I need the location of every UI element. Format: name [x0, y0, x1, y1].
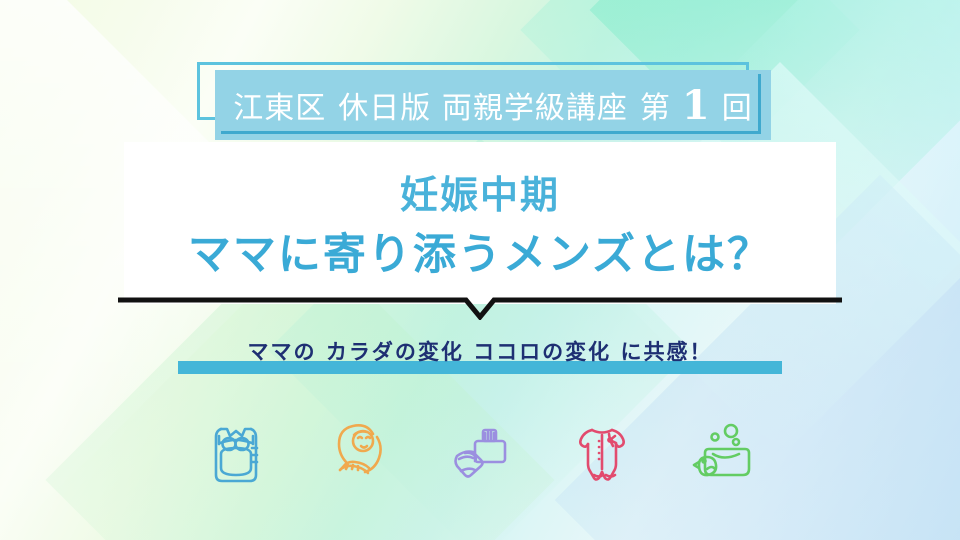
banner-ward-label: 江東区	[233, 83, 326, 127]
banner-ordinal-suffix: 回	[722, 83, 753, 127]
icon-cell-diaper-wipes	[434, 406, 526, 498]
banner-ordinal-prefix: 第	[640, 83, 671, 127]
title-card: 妊娠中期 ママに寄り添うメンズとは？	[124, 142, 836, 304]
icon-cell-baby-carrier	[190, 406, 282, 498]
header-banner: 江東区 休日版 両親学級講座 第 1 回	[197, 62, 771, 140]
slide-canvas: 江東区 休日版 両親学級講座 第 1 回 妊娠中期 ママに寄り添うメンズとは？ …	[0, 0, 960, 540]
baby-romper-icon	[565, 415, 639, 489]
divider-rule	[118, 296, 842, 320]
divider-notch-icon	[118, 296, 842, 320]
baby-carrier-icon	[199, 415, 273, 489]
icon-row	[190, 406, 770, 498]
banner-text: 江東区 休日版 両親学級講座 第 1 回	[215, 70, 771, 140]
subtitle-block: ママの カラダの変化 ココロの変化 に共感！	[178, 336, 782, 374]
baby-in-arms-icon	[321, 415, 395, 489]
icon-cell-baby-romper	[556, 406, 648, 498]
banner-session-number: 1	[682, 86, 711, 126]
icon-cell-baby-bath	[678, 406, 770, 498]
diaper-wipes-icon	[443, 415, 517, 489]
subtitle-text: ママの カラダの変化 ココロの変化 に共感！	[178, 336, 782, 366]
title-line-1: 妊娠中期	[124, 164, 836, 219]
baby-bath-icon	[687, 415, 761, 489]
title-line-2: ママに寄り添うメンズとは？	[124, 220, 836, 282]
icon-cell-baby-in-arms	[312, 406, 404, 498]
banner-course-label: 休日版 両親学級講座	[338, 83, 628, 127]
